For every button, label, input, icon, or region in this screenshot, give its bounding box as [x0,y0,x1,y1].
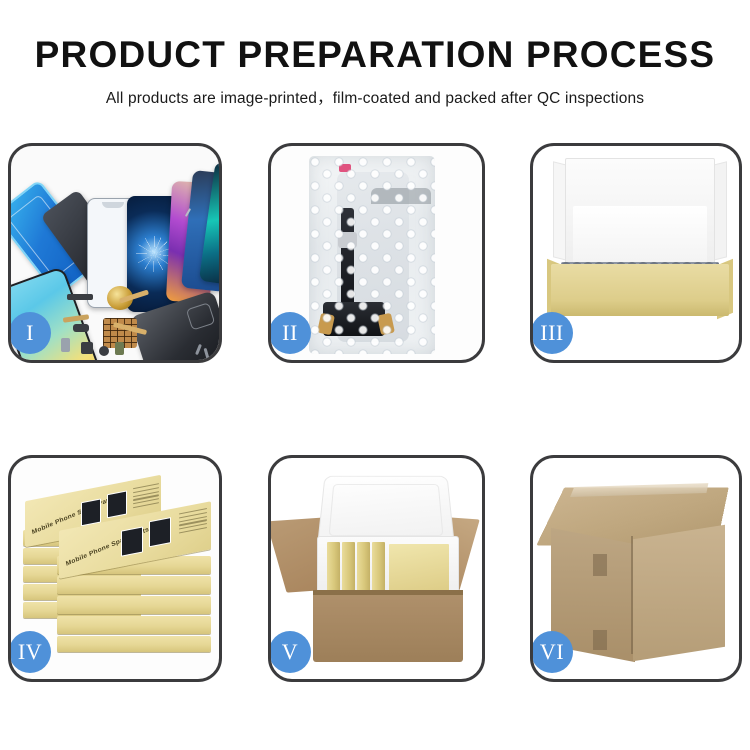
step-badge-1: I [9,312,51,354]
speaker-part [67,294,93,300]
inner-box [372,542,385,594]
bubble-texture [309,156,435,354]
step-numeral: III [540,322,563,344]
step-badge-3: III [531,312,573,354]
step-panel-2[interactable]: II [268,143,485,363]
steps-grid: I II [0,0,750,750]
small-part-c [99,346,109,356]
yellow-kraft-box-tray [551,264,729,316]
box-spec-lines [133,483,159,511]
box-photo-a [121,526,143,556]
inner-box [357,542,370,594]
inner-box [342,542,355,594]
step-panel-3[interactable]: III [530,143,742,363]
step-badge-2: II [269,312,311,354]
box-photo-b [107,490,127,518]
carton-right-face [633,525,725,662]
stacked-box-edge [57,636,211,652]
step-panel-4[interactable]: Mobile Phone Spare Parts Mobile Phone Sp… [8,455,222,682]
step-badge-6: VI [531,631,573,673]
step-panel-1[interactable]: I [8,143,222,363]
small-part-d [61,338,70,352]
small-part-b [81,342,93,354]
box-spec-lines [179,508,207,536]
box-photo-b [149,517,171,547]
inner-box [327,542,340,594]
carton-seam-upper [593,554,607,576]
product-preparation-infographic: PRODUCT PREPARATION PROCESS All products… [0,0,750,750]
step-numeral: VI [540,641,564,663]
step-badge-5: V [269,631,311,673]
inner-box-flat [389,544,449,592]
step-panel-5[interactable]: V [268,455,485,682]
step-numeral: V [282,641,298,663]
step-numeral: II [282,322,298,344]
bubble-wrap-bag [309,156,435,354]
step-numeral: I [26,322,34,344]
carton-vertical-edge [631,536,633,654]
box-stack: Mobile Phone Spare Parts Mobile Phone Sp… [21,472,217,652]
carton-front-panel [313,590,463,662]
stacked-box-edge [57,616,211,634]
stacked-box-edge [57,576,211,594]
step-badge-4: IV [9,631,51,673]
battery-part [115,342,124,355]
inner-boxes-group [327,542,449,594]
carton-seam-lower [593,630,607,650]
stacked-box-edge [57,596,211,614]
small-part-a [73,324,89,332]
step-numeral: IV [18,641,42,663]
step-panel-6[interactable]: VI [530,455,742,682]
